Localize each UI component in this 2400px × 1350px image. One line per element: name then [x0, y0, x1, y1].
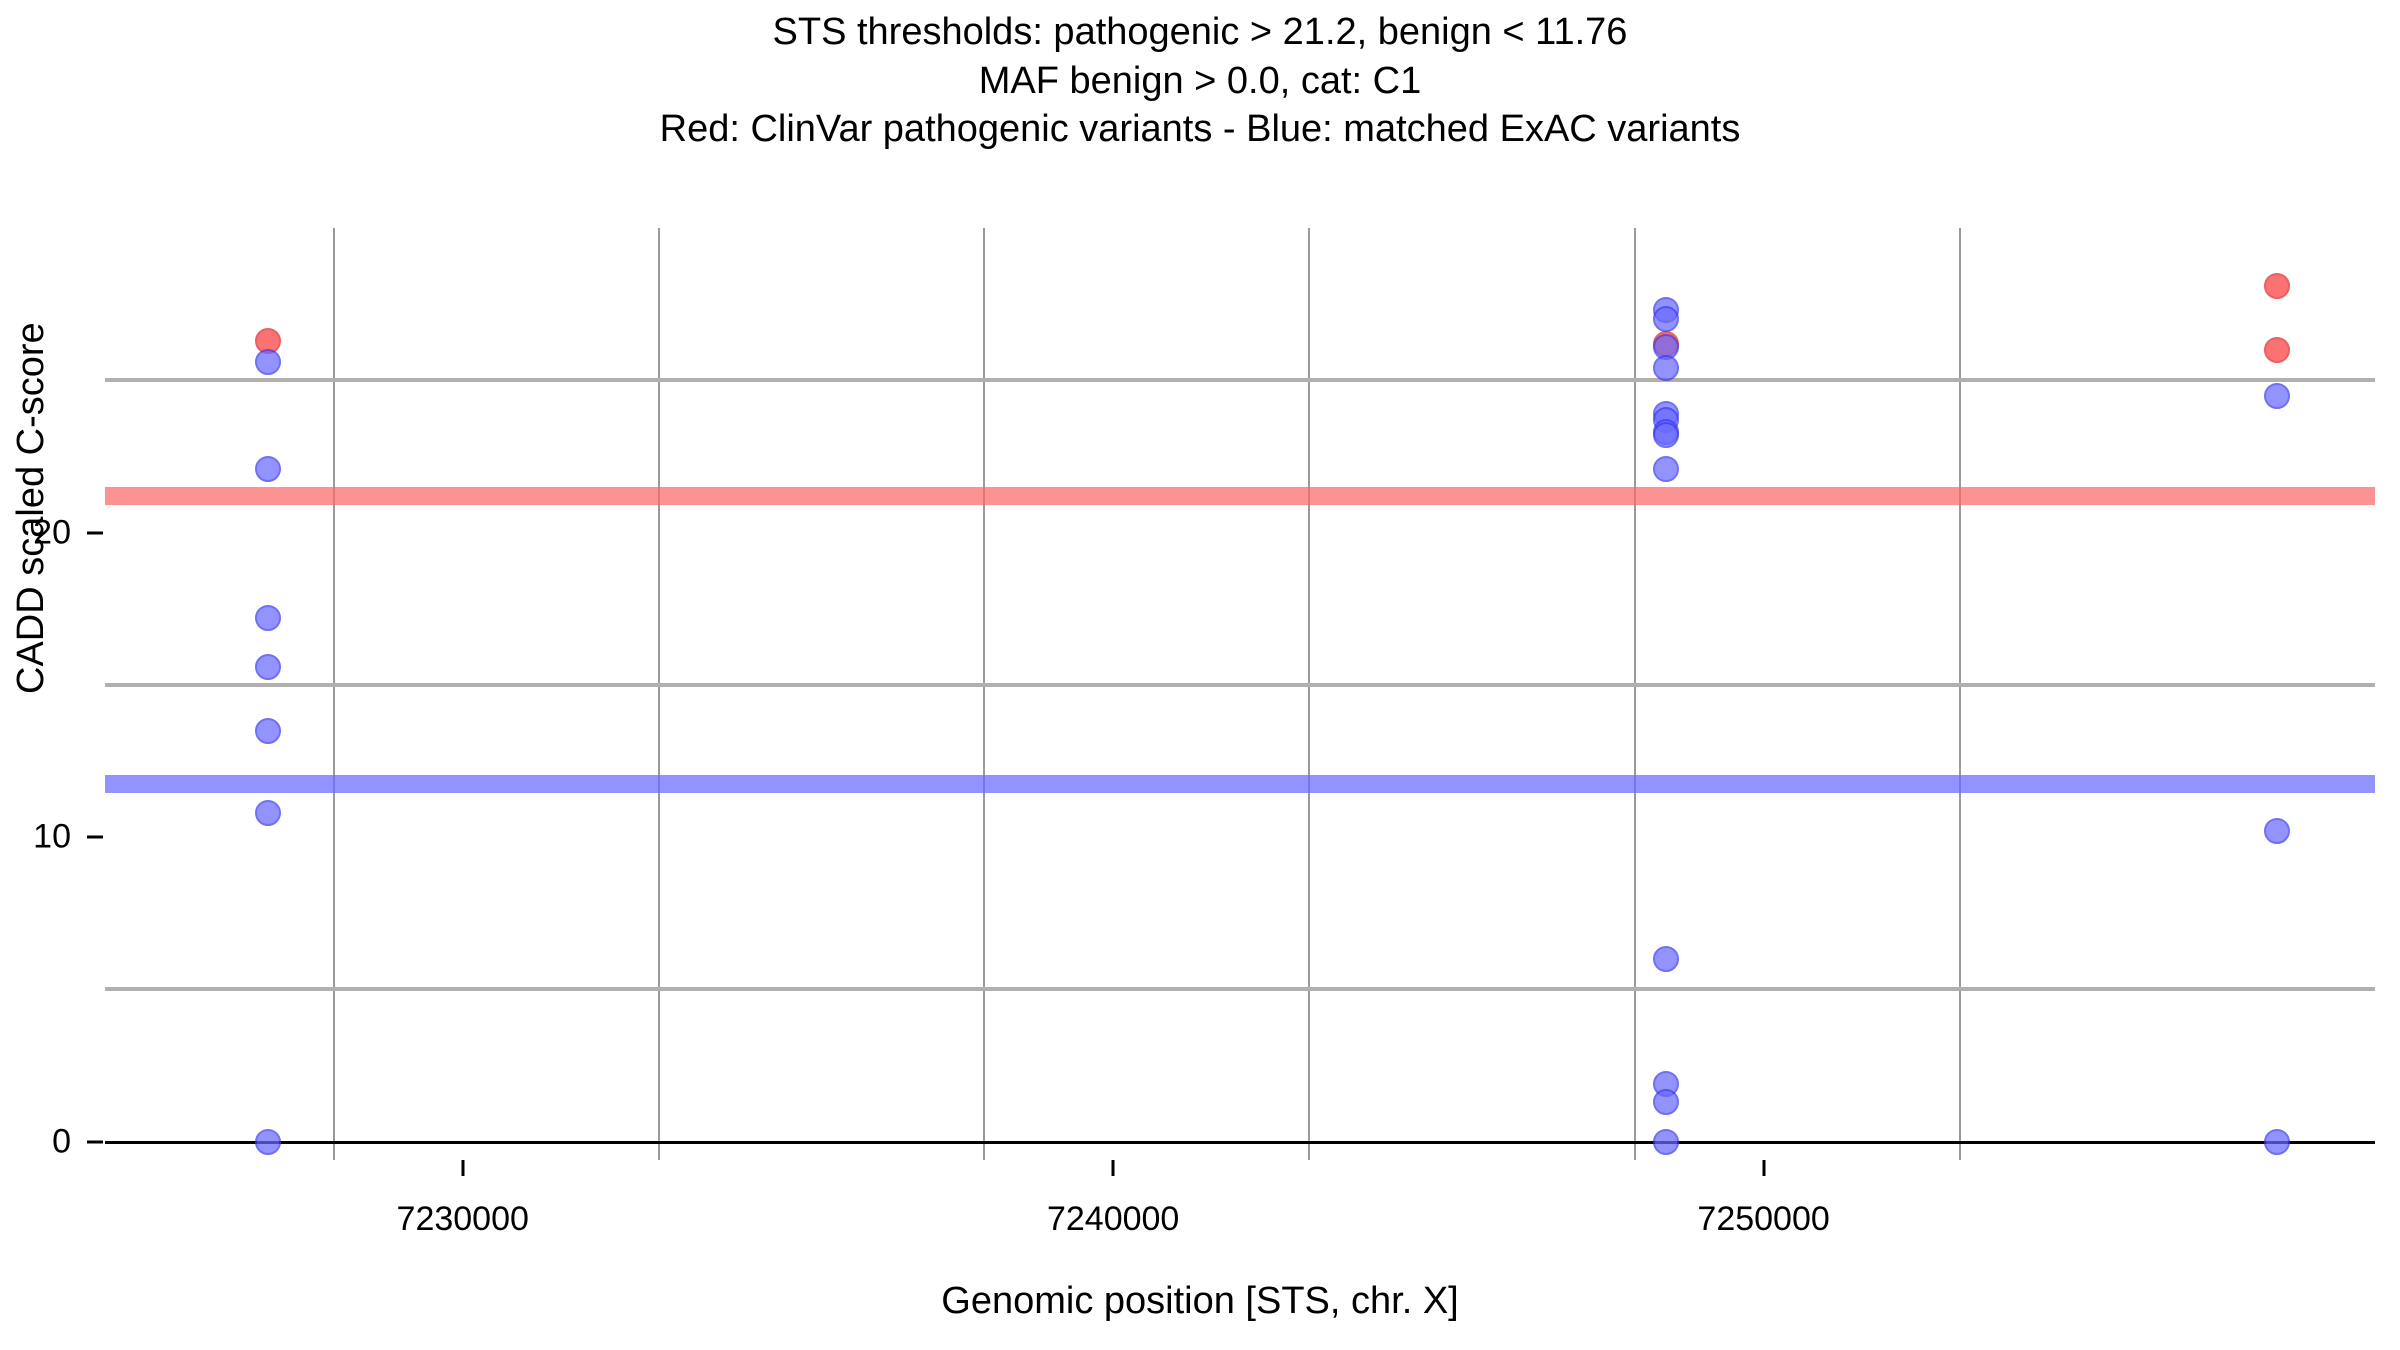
data-point-exac-20 — [2264, 383, 2290, 409]
data-point-exac-1 — [255, 456, 281, 482]
y-tick-label-10: 10 — [33, 818, 71, 857]
vertical-gridline-2 — [983, 228, 985, 1160]
vertical-gridline-5 — [1959, 228, 1961, 1160]
data-point-exac-22 — [2264, 1129, 2290, 1155]
data-point-exac-19 — [1653, 1129, 1679, 1155]
x-tick-mark-7240000 — [1112, 1160, 1115, 1176]
y-tick-mark-0 — [87, 1140, 103, 1143]
y-tick-mark-20 — [87, 531, 103, 534]
threshold-line-pathogenic — [105, 487, 2375, 505]
y-tick-label-0: 0 — [52, 1122, 71, 1161]
vertical-gridline-0 — [333, 228, 335, 1160]
data-point-exac-5 — [255, 800, 281, 826]
vertical-gridline-1 — [658, 228, 660, 1160]
data-point-exac-6 — [255, 1129, 281, 1155]
x-tick-label-7250000: 7250000 — [1697, 1200, 1829, 1239]
vertical-gridline-3 — [1308, 228, 1310, 1160]
x-tick-mark-7230000 — [461, 1160, 464, 1176]
horizontal-gridline-1 — [105, 683, 2375, 687]
vertical-gridline-4 — [1634, 228, 1636, 1160]
chart-title-line-2: MAF benign > 0.0, cat: C1 — [0, 57, 2400, 106]
plot-panel — [105, 228, 2375, 1160]
scatter-plot-figure: STS thresholds: pathogenic > 21.2, benig… — [0, 0, 2400, 1350]
y-tick-label-20: 20 — [33, 513, 71, 552]
threshold-line-benign — [105, 775, 2375, 793]
data-point-exac-2 — [255, 605, 281, 631]
data-point-exac-21 — [2264, 818, 2290, 844]
x-tick-label-7240000: 7240000 — [1047, 1200, 1179, 1239]
data-point-exac-0 — [255, 349, 281, 375]
chart-title: STS thresholds: pathogenic > 21.2, benig… — [0, 8, 2400, 154]
data-point-exac-14 — [1653, 422, 1679, 448]
data-point-pathogenic-2 — [2264, 273, 2290, 299]
chart-title-line-1: STS thresholds: pathogenic > 21.2, benig… — [0, 8, 2400, 57]
data-point-exac-10 — [1653, 355, 1679, 381]
data-point-exac-15 — [1653, 456, 1679, 482]
y-axis-title: CADD scaled C-score — [10, 322, 53, 694]
data-point-exac-3 — [255, 654, 281, 680]
data-point-exac-4 — [255, 718, 281, 744]
x-tick-mark-7250000 — [1762, 1160, 1765, 1176]
data-point-exac-8 — [1653, 306, 1679, 332]
chart-title-line-3: Red: ClinVar pathogenic variants - Blue:… — [0, 105, 2400, 154]
data-point-exac-18 — [1653, 1089, 1679, 1115]
horizontal-gridline-0 — [105, 987, 2375, 991]
data-point-exac-16 — [1653, 946, 1679, 972]
data-point-pathogenic-3 — [2264, 337, 2290, 363]
x-axis-title: Genomic position [STS, chr. X] — [0, 1280, 2400, 1323]
x-tick-label-7230000: 7230000 — [397, 1200, 529, 1239]
horizontal-gridline-2 — [105, 378, 2375, 382]
zero-baseline — [105, 1141, 2375, 1144]
y-tick-mark-10 — [87, 836, 103, 839]
